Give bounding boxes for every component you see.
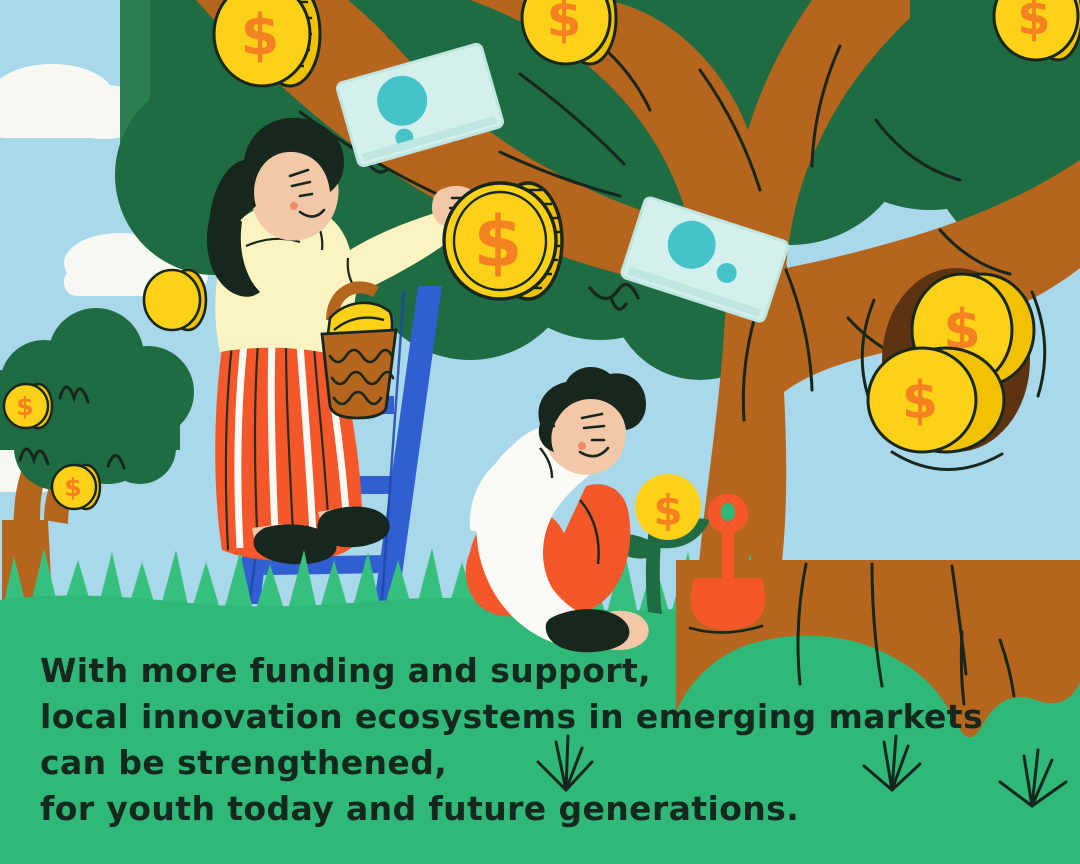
boy-head xyxy=(538,367,646,475)
caption-line-4: for youth today and future generations. xyxy=(40,786,1040,832)
boy-shoe xyxy=(546,609,630,652)
svg-text:$: $ xyxy=(653,486,682,535)
illustration-canvas: $ $ $ $ $ xyxy=(0,0,1080,864)
caption-line-3: can be strengthened, xyxy=(40,740,1040,786)
shovel xyxy=(690,494,765,633)
caption-line-2: local innovation ecosystems in emerging … xyxy=(40,694,1040,740)
caption-line-1: With more funding and support, xyxy=(40,648,1040,694)
caption-block: With more funding and support, local inn… xyxy=(40,648,1040,832)
